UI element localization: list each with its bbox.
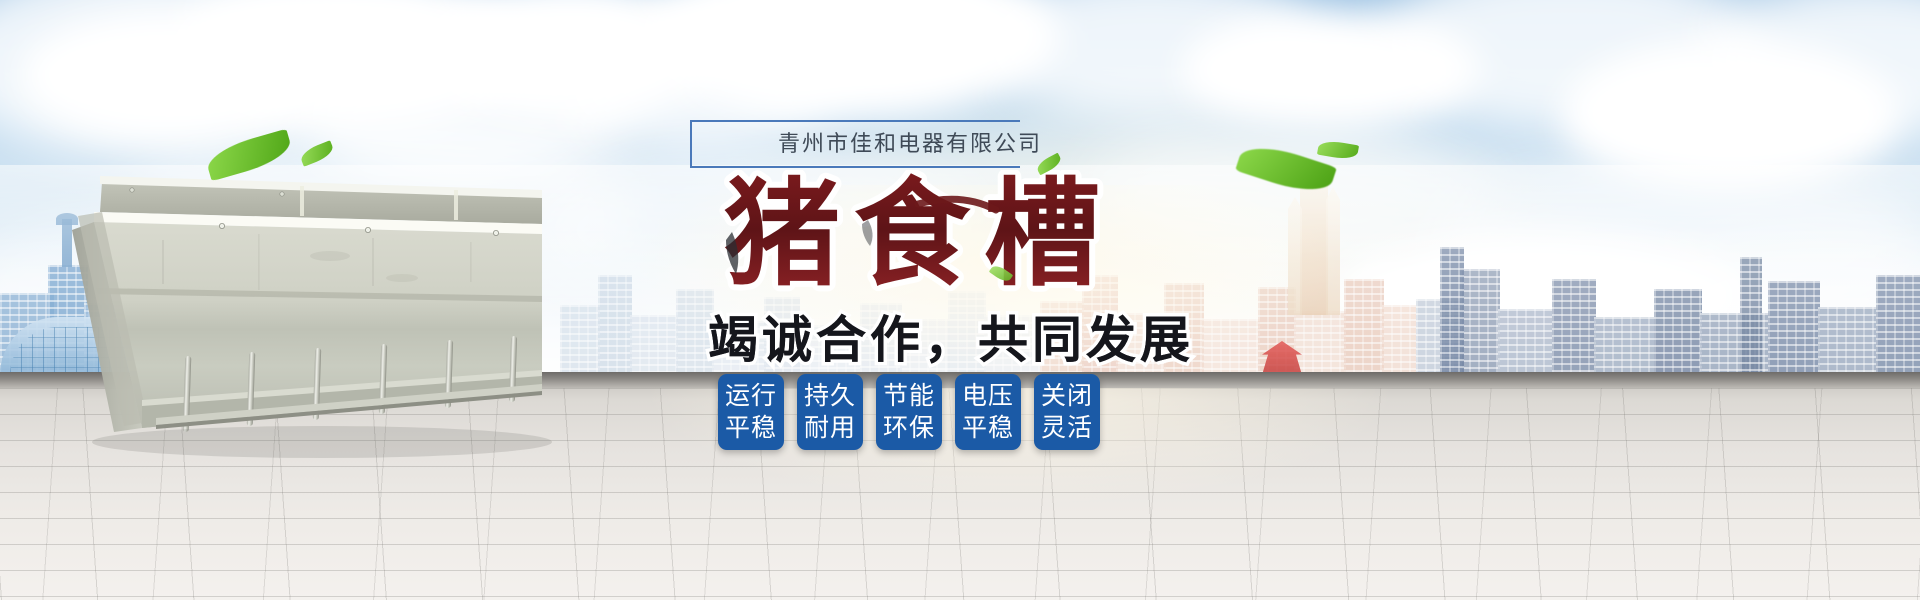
leaf-decoration-icon bbox=[1317, 139, 1359, 162]
company-name: 青州市佳和电器有限公司 bbox=[750, 126, 1070, 158]
badge-line-2: 平稳 bbox=[725, 412, 777, 444]
subtitle-outline: 竭诚合作，共同发展 bbox=[708, 300, 1188, 372]
feature-badge[interactable]: 关闭 灵活 bbox=[1034, 374, 1100, 450]
badge-line-1: 持久 bbox=[804, 380, 856, 412]
product-image-pig-feeder bbox=[72, 160, 572, 460]
badge-line-2: 耐用 bbox=[804, 412, 856, 444]
badge-line-2: 环保 bbox=[883, 412, 935, 444]
badge-line-2: 灵活 bbox=[1041, 412, 1093, 444]
feature-badge[interactable]: 电压 平稳 bbox=[955, 374, 1021, 450]
main-title: 猪 食 槽 bbox=[718, 170, 1138, 300]
banner-text-block: 青州市佳和电器有限公司 猪 食 槽 bbox=[690, 104, 1250, 554]
main-title-char-3: 槽 bbox=[984, 172, 1110, 300]
leaf-decoration-icon bbox=[204, 129, 295, 182]
leaf-decoration-icon bbox=[1235, 138, 1337, 200]
main-title-char-2: 食 bbox=[854, 172, 980, 300]
feature-badges: 运行 平稳 持久 耐用 节能 环保 电压 平稳 关闭 灵活 bbox=[718, 374, 1100, 450]
badge-line-1: 关闭 bbox=[1041, 380, 1093, 412]
badge-line-2: 平稳 bbox=[962, 412, 1014, 444]
feature-badge[interactable]: 持久 耐用 bbox=[797, 374, 863, 450]
leaf-decoration-icon bbox=[298, 140, 335, 167]
subtitle: 竭诚合作，共同发展 bbox=[708, 300, 1188, 372]
feature-badge[interactable]: 运行 平稳 bbox=[718, 374, 784, 450]
badge-line-1: 电压 bbox=[962, 380, 1014, 412]
main-title-char-1: 猪 bbox=[724, 172, 850, 300]
promotional-banner: 青州市佳和电器有限公司 猪 食 槽 bbox=[0, 0, 1920, 600]
badge-line-1: 节能 bbox=[883, 380, 935, 412]
feature-badge[interactable]: 节能 环保 bbox=[876, 374, 942, 450]
badge-line-1: 运行 bbox=[725, 380, 777, 412]
